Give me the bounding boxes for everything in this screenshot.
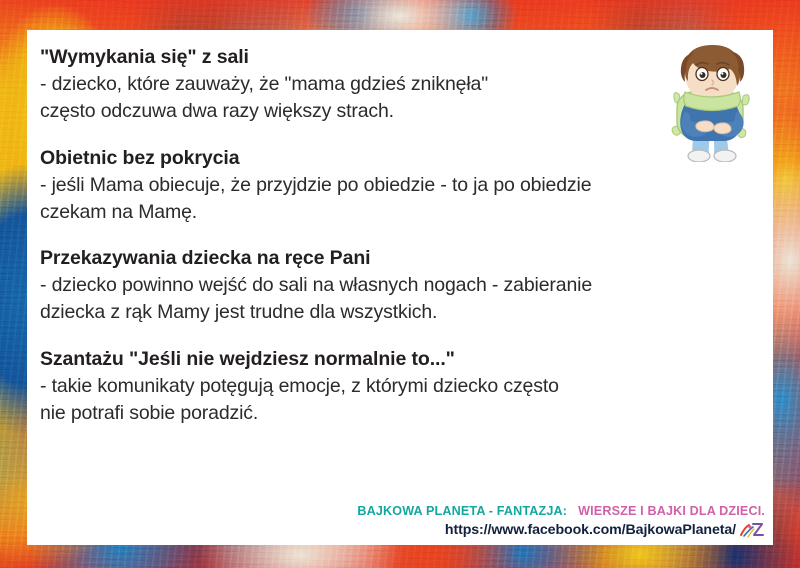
tip-block-1: "Wymykania się" z sali - dziecko, które …	[40, 44, 761, 125]
brand-name-text: BAJKOWA PLANETA - FANTAZJA:	[357, 504, 567, 518]
poster-canvas: "Wymykania się" z sali - dziecko, które …	[0, 0, 800, 568]
brand-subtitle-text: WIERSZE I BAJKI DLA DZIECI.	[578, 504, 765, 518]
footer-branding: BAJKOWA PLANETA - FANTAZJA: WIERSZE I BA…	[357, 504, 765, 539]
tip-line: nie potrafi sobie poradzić.	[40, 400, 761, 427]
tip-block-3: Przekazywania dziecka na ręce Pani - dzi…	[40, 245, 761, 326]
content-card: "Wymykania się" z sali - dziecko, które …	[27, 30, 773, 545]
tip-heading: Przekazywania dziecka na ręce Pani	[40, 245, 761, 272]
brand-tagline: BAJKOWA PLANETA - FANTAZJA: WIERSZE I BA…	[357, 504, 765, 519]
tip-heading: Obietnic bez pokrycia	[40, 145, 761, 172]
tip-line: - dziecko powinno wejść do sali na własn…	[40, 272, 761, 299]
tip-line: często odczuwa dwa razy większy strach.	[40, 98, 761, 125]
tip-line: - dziecko, które zauważy, że "mama gdzie…	[40, 71, 761, 98]
tip-line: dziecka z rąk Mamy jest trudne dla wszys…	[40, 299, 761, 326]
facebook-url-line[interactable]: https://www.facebook.com/BajkowaPlaneta/	[357, 521, 765, 539]
tip-line: - takie komunikaty potęgują emocje, z kt…	[40, 373, 761, 400]
tip-block-4: Szantażu "Jeśli nie wejdziesz normalnie …	[40, 346, 761, 427]
tip-block-2: Obietnic bez pokrycia - jeśli Mama obiec…	[40, 145, 761, 226]
tip-heading: Szantażu "Jeśli nie wejdziesz normalnie …	[40, 346, 761, 373]
tip-line: - jeśli Mama obiecuje, że przyjdzie po o…	[40, 172, 761, 199]
brand-mark-icon	[739, 521, 765, 539]
tip-heading: "Wymykania się" z sali	[40, 44, 761, 71]
tips-list: "Wymykania się" z sali - dziecko, które …	[40, 44, 761, 427]
facebook-url-text[interactable]: https://www.facebook.com/BajkowaPlaneta/	[445, 522, 736, 539]
tip-line: czekam na Mamę.	[40, 199, 761, 226]
